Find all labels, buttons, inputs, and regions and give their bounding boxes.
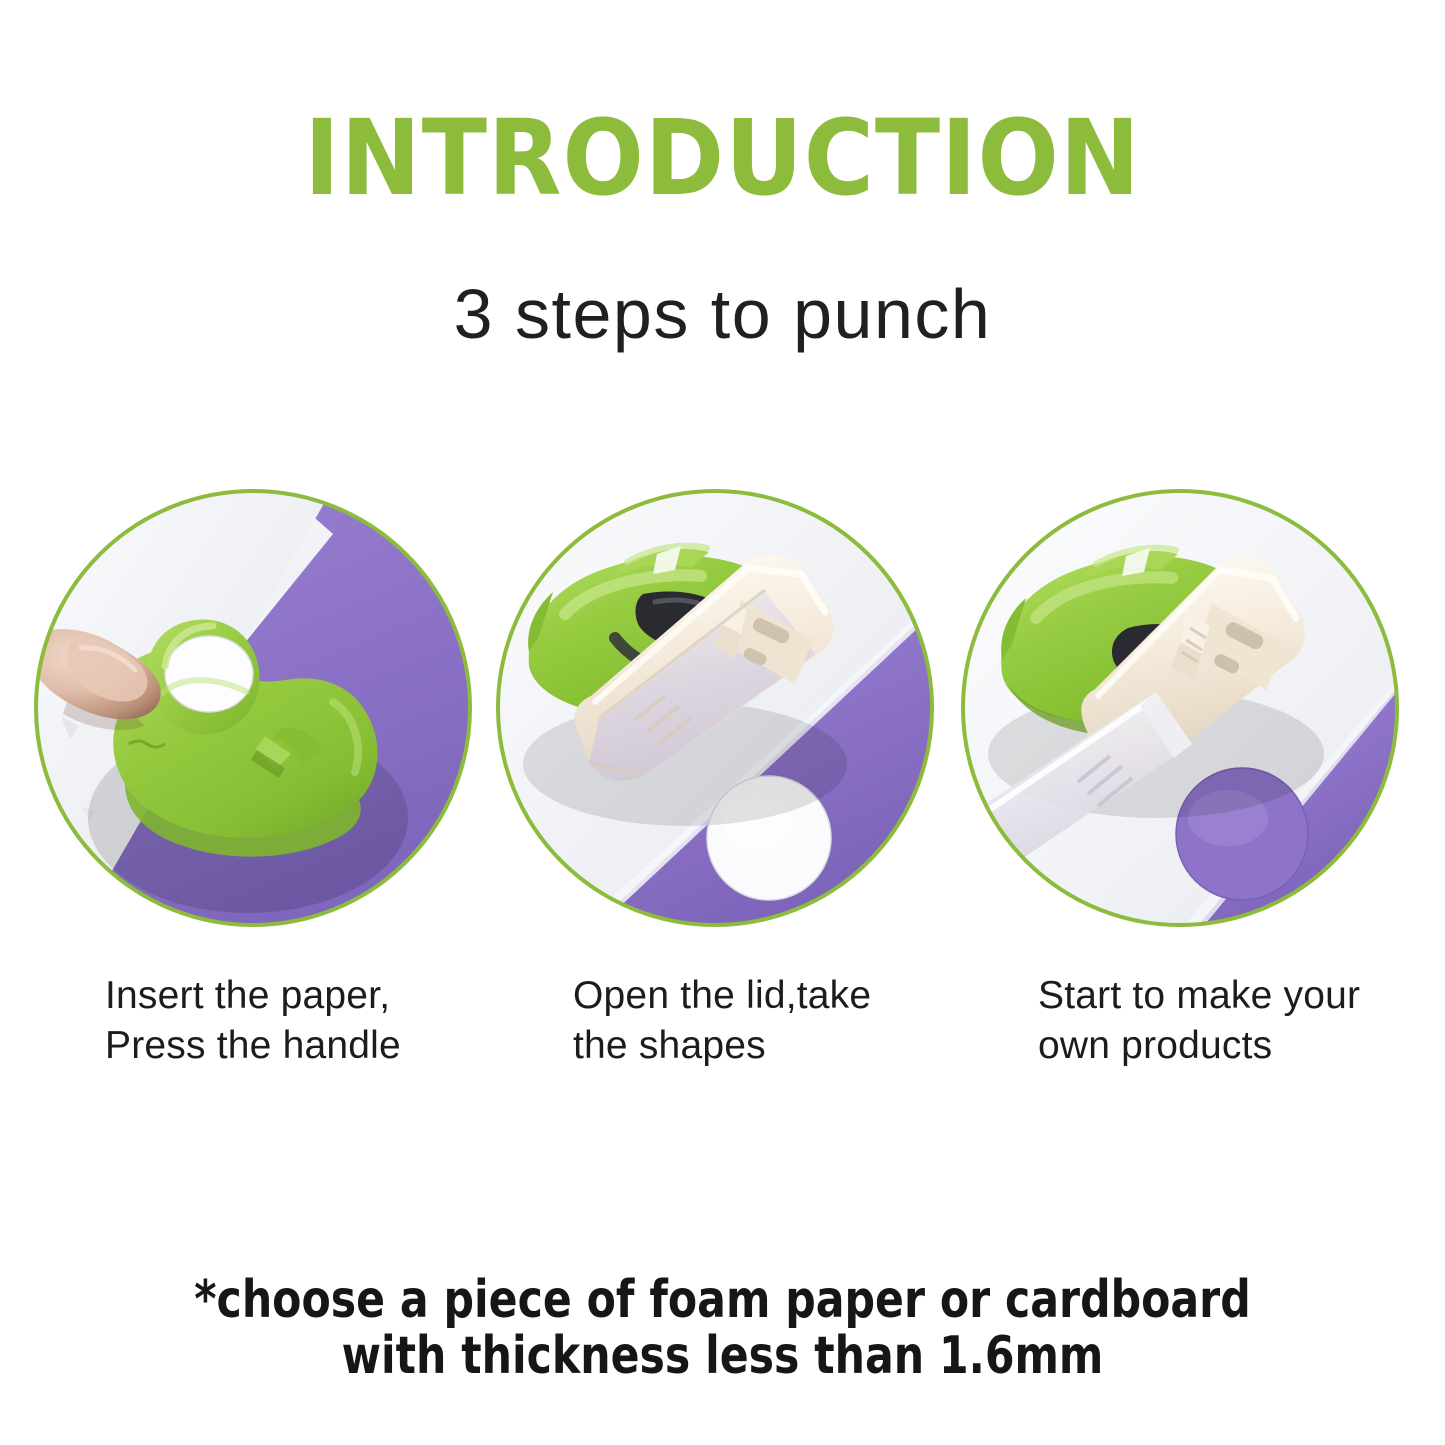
step-1-caption-line-2: Press the handle — [105, 1021, 473, 1071]
step-3-caption-line-1: Start to make your — [1038, 971, 1400, 1021]
step-1-photo — [33, 488, 473, 928]
step-2-caption: Open the lid,take the shapes — [495, 971, 935, 1071]
punch-top-view-illustration — [33, 488, 473, 928]
footnote-line-1: *choose a piece of foam paper or cardboa… — [130, 1272, 1315, 1328]
page-subtitle: 3 steps to punch — [0, 276, 1445, 352]
step-1: Insert the paper, Press the handle — [33, 488, 473, 1071]
page-title: INTRODUCTION — [58, 106, 1387, 210]
step-1-caption-line-1: Insert the paper, — [105, 971, 473, 1021]
steps-row: Insert the paper, Press the handle — [0, 488, 1445, 1088]
step-3: Start to make your own products — [960, 488, 1400, 1071]
step-3-photo — [960, 488, 1400, 928]
step-3-caption: Start to make your own products — [960, 971, 1400, 1071]
footnote: *choose a piece of foam paper or cardboa… — [130, 1272, 1315, 1384]
infographic-page: INTRODUCTION 3 steps to punch — [0, 0, 1445, 1445]
step-2-photo — [495, 488, 935, 928]
punch-lid-open-illustration — [495, 488, 935, 928]
step-2: Open the lid,take the shapes — [495, 488, 935, 1071]
step-1-caption: Insert the paper, Press the handle — [33, 971, 473, 1071]
step-2-caption-line-1: Open the lid,take — [573, 971, 935, 1021]
step-3-caption-line-2: own products — [1038, 1021, 1400, 1071]
footnote-line-2: with thickness less than 1.6mm — [130, 1328, 1315, 1384]
step-2-caption-line-2: the shapes — [573, 1021, 935, 1071]
punch-lid-slid-out-illustration — [960, 488, 1400, 928]
